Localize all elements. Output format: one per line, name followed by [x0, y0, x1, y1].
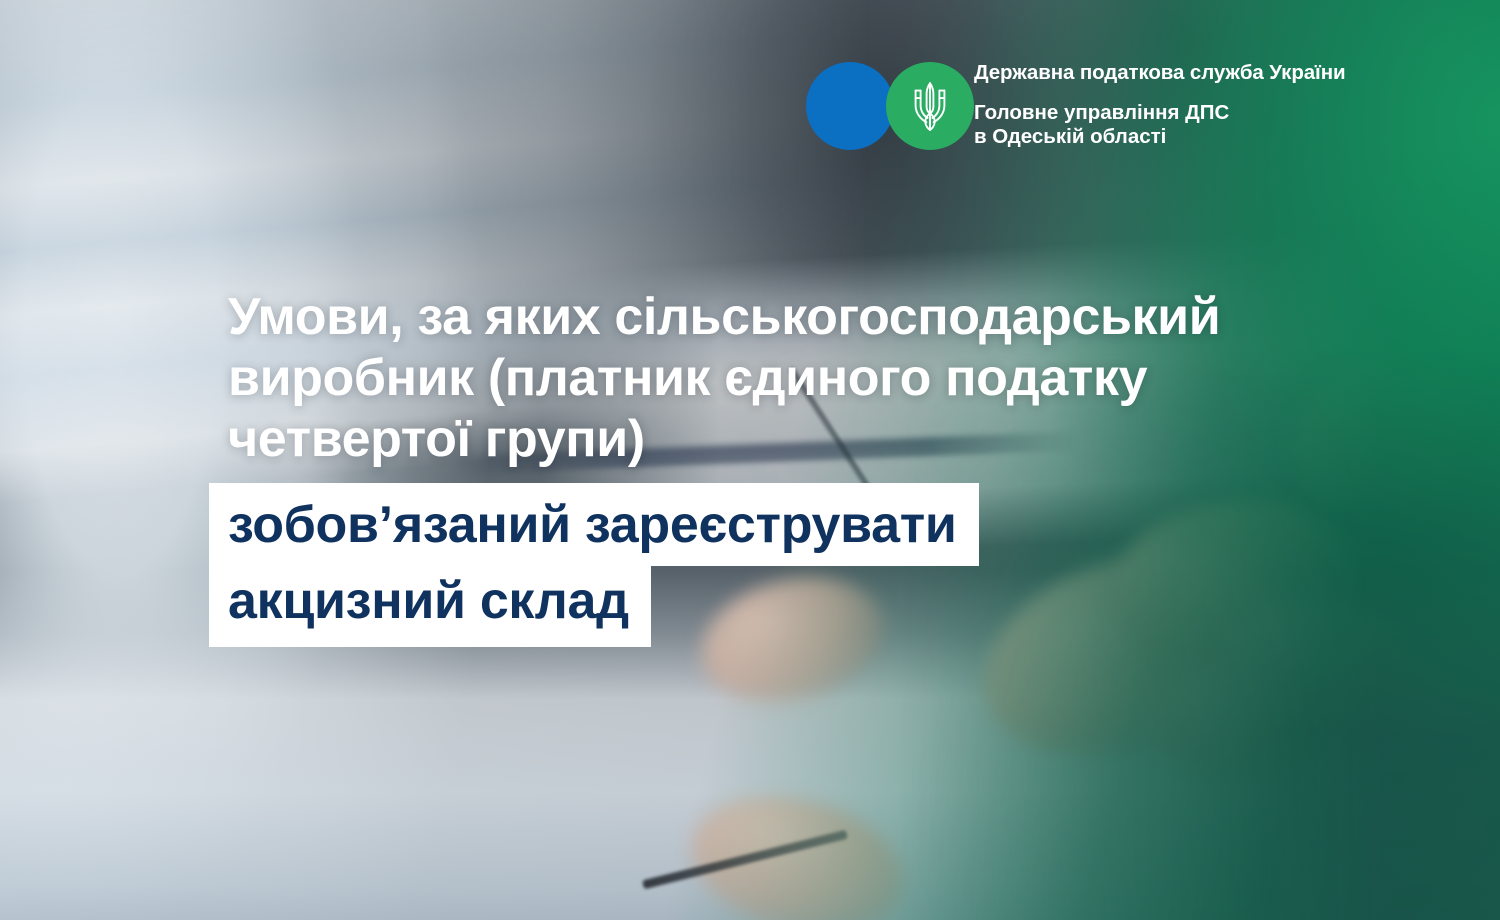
headline-line: четвертої групи)	[228, 409, 1479, 470]
headline-line: виробник (платник єдиного податку	[228, 348, 1479, 409]
logo-text-block: Державна податкова служба України Головн…	[974, 63, 1346, 148]
tryzub-icon	[909, 80, 951, 132]
logo-department-row-2: в Одеській області	[974, 125, 1346, 149]
headline-highlight-text: зобов’язаний зареєструвати акцизний скла…	[209, 483, 1479, 647]
blue-circle-icon	[806, 62, 894, 150]
logo-marks	[806, 62, 974, 150]
logo-department-row-1: Головне управління ДПС	[974, 101, 1346, 125]
headline-line: Умови, за яких сільськогосподарський	[228, 287, 1479, 348]
banner-canvas: Державна податкова служба України Головн…	[0, 0, 1500, 920]
logo-org-name: Державна податкова служба України	[974, 63, 1346, 84]
headline-block: Умови, за яких сільськогосподарський вир…	[209, 287, 1479, 647]
logo-department: Головне управління ДПС в Одеській област…	[974, 101, 1346, 149]
green-circle-icon	[886, 62, 974, 150]
headline-white-text: Умови, за яких сільськогосподарський вир…	[228, 287, 1479, 470]
headline-highlight-line: акцизний склад	[209, 566, 651, 647]
headline-highlight-line: зобов’язаний зареєструвати	[209, 483, 979, 566]
organisation-logo: Державна податкова служба України Головн…	[806, 62, 1346, 150]
